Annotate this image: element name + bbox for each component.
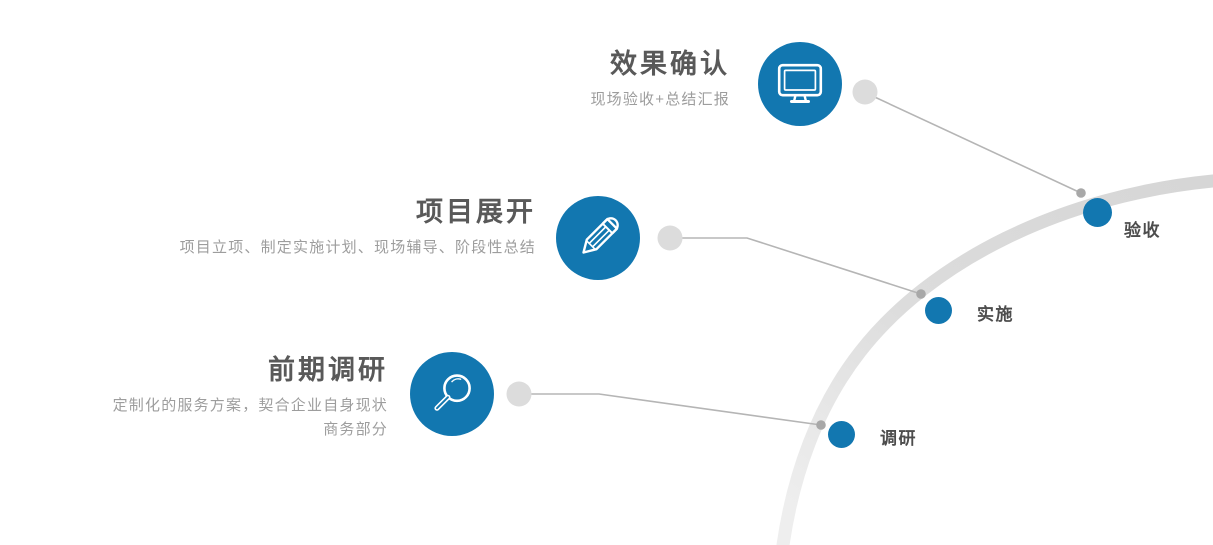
- infographic-canvas: 效果确认 现场验收+总结汇报 项目展开 项目立项、制定实施计划、现场辅导、阶段性…: [0, 0, 1213, 545]
- connector-dot-large-2: [658, 226, 683, 251]
- pencil-icon: [573, 213, 623, 263]
- monitor-icon: [777, 63, 823, 105]
- connector-dot-small-1: [1076, 188, 1086, 198]
- connector-dot-large-3: [507, 382, 532, 407]
- arc-node-label-1: 验收: [1124, 216, 1161, 241]
- connector-line-1: [853, 80, 1086, 198]
- stage-title-2: 项目展开: [16, 196, 536, 230]
- arc-node-label-2: 实施: [977, 300, 1014, 325]
- connector-line-3: [507, 382, 826, 430]
- stage-icon-badge-2[interactable]: [556, 196, 640, 280]
- stage-subtitle-3: 定制化的服务方案，契合企业自身现状 商务部分: [0, 394, 388, 443]
- stage-title-3: 前期调研: [0, 354, 388, 388]
- magnifier-icon: [429, 371, 475, 417]
- stage-icon-badge-1[interactable]: [758, 42, 842, 126]
- connector-dot-small-2: [916, 289, 926, 299]
- arc-node-3[interactable]: [828, 421, 855, 448]
- connector-dot-small-3: [816, 420, 826, 430]
- connector-dot-large-1: [853, 80, 878, 105]
- stage-text-1: 效果确认 现场验收+总结汇报: [310, 48, 730, 112]
- arc-node-1[interactable]: [1083, 198, 1112, 227]
- arc-node-2[interactable]: [925, 297, 952, 324]
- stage-subtitle-2: 项目立项、制定实施计划、现场辅导、阶段性总结: [16, 236, 536, 260]
- arc-node-label-3: 调研: [880, 424, 917, 449]
- stage-subtitle-1: 现场验收+总结汇报: [310, 88, 730, 112]
- stage-title-1: 效果确认: [310, 48, 730, 82]
- stage-text-2: 项目展开 项目立项、制定实施计划、现场辅导、阶段性总结: [16, 196, 536, 260]
- stage-text-3: 前期调研 定制化的服务方案，契合企业自身现状 商务部分: [0, 354, 388, 442]
- connector-line-2: [658, 226, 926, 299]
- stage-icon-badge-3[interactable]: [410, 352, 494, 436]
